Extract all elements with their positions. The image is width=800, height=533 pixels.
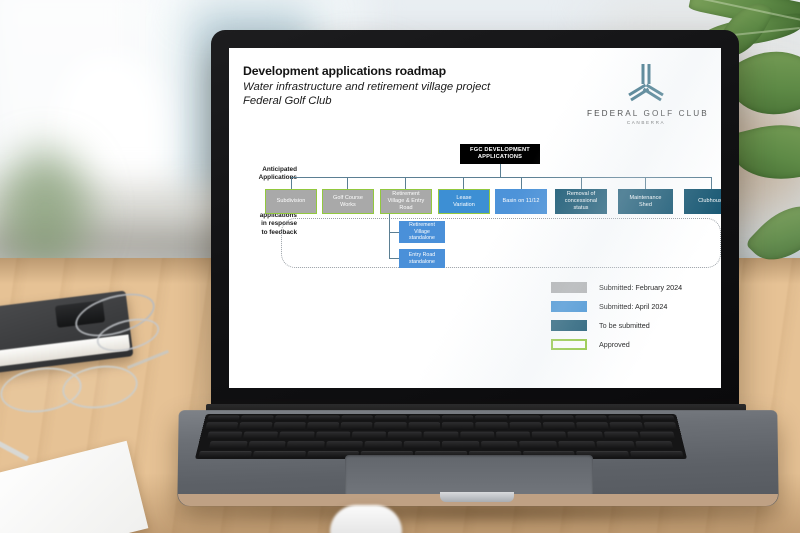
connector-revised-elbow-retirement-village-standalone	[389, 232, 399, 233]
keyboard-key[interactable]	[442, 416, 474, 421]
keyboard-key[interactable]	[568, 432, 603, 440]
keyboard-key[interactable]	[239, 422, 272, 430]
node-label-line2: Shed	[639, 202, 652, 209]
keyboard-key[interactable]	[575, 416, 607, 421]
keyboard-key[interactable]	[315, 432, 350, 440]
laptop-screen: Development applications roadmap Water i…	[229, 48, 721, 388]
keyboard-key[interactable]	[273, 422, 306, 430]
laptop-keyboard[interactable]	[195, 414, 687, 459]
keyboard-key[interactable]	[340, 422, 372, 430]
keyboard-key[interactable]	[442, 422, 474, 430]
keyboard-key[interactable]	[252, 451, 305, 458]
connector-drop-lease-variation	[463, 177, 464, 189]
keyboard-key[interactable]	[374, 422, 406, 430]
node-label-line2: Works	[340, 202, 356, 209]
legend-label: Submitted: April 2024	[599, 302, 667, 311]
keyboard-key[interactable]	[403, 441, 440, 449]
keyboard-key[interactable]	[408, 422, 440, 430]
legend-swatch-gray	[551, 282, 587, 293]
keyboard-key[interactable]	[639, 432, 675, 440]
connector-revised-vertical	[389, 214, 390, 259]
keyboard-key[interactable]	[279, 432, 314, 440]
connector-revised-elbow-entry-road-standalone	[389, 258, 399, 259]
keyboard-key[interactable]	[207, 416, 240, 421]
keyboard-key[interactable]	[576, 422, 609, 430]
diagram-node-maintenance-shed[interactable]: Maintenance Shed	[618, 189, 673, 214]
keyboard-key[interactable]	[375, 416, 407, 421]
keyboard-key[interactable]	[604, 432, 639, 440]
legend-item-submitted-february-2024: Submitted: February 2024	[551, 279, 682, 295]
node-label-line3: status	[574, 205, 589, 212]
node-label-line1: FGC DEVELOPMENT	[470, 147, 530, 154]
legend-swatch-teal	[551, 320, 587, 331]
keyboard-key[interactable]	[642, 416, 675, 421]
keyboard-key[interactable]	[248, 441, 286, 449]
keyboard-key[interactable]	[325, 441, 362, 449]
diagram-node-retirement-village-entry-road[interactable]: Retirement Village & Entry Road	[380, 189, 432, 214]
keyboard-key[interactable]	[509, 416, 541, 421]
keyboard-key[interactable]	[460, 432, 494, 440]
connector-drop-basin-on-11-12	[521, 177, 522, 189]
keyboard-key[interactable]	[352, 432, 387, 440]
connector-drop-maintenance-shed	[645, 177, 646, 189]
keyboard-key[interactable]	[388, 432, 422, 440]
diagram-node-lease-variation[interactable]: Lease Variation	[438, 189, 490, 214]
roadmap-diagram: FGC DEVELOPMENT APPLICATIONS Subdi	[229, 48, 721, 388]
laptop-front-notch	[440, 492, 514, 502]
presentation-slide: Development applications roadmap Water i…	[229, 48, 721, 388]
node-label-line2: standalone	[409, 259, 435, 265]
node-label-line1: Maintenance	[629, 195, 661, 202]
keyboard-key[interactable]	[207, 432, 243, 440]
diagram-node-clubhouse[interactable]: Clubhouse	[684, 189, 721, 214]
connector-drop-removal-of-concessional-status	[581, 177, 582, 189]
connector-root-stem	[500, 164, 501, 178]
node-label-line1: Clubhouse	[698, 198, 721, 205]
laptop-trackpad[interactable]	[345, 455, 593, 497]
keyboard-key[interactable]	[610, 422, 643, 430]
keyboard-key[interactable]	[596, 441, 634, 449]
keyboard-key[interactable]	[209, 441, 247, 449]
node-label-line1: Basin on 11/12	[503, 198, 540, 205]
keyboard-key[interactable]	[481, 441, 518, 449]
connector-drop-retirement-village-entry-road	[405, 177, 406, 189]
keyboard-key[interactable]	[635, 441, 673, 449]
connector-horizontal-bus	[291, 177, 712, 178]
connector-drop-golf-course-works	[347, 177, 348, 189]
revised-applications-zone	[281, 218, 721, 268]
keyboard-key[interactable]	[341, 416, 373, 421]
node-label-line1: Removal of	[567, 191, 595, 198]
node-label-line2: APPLICATIONS	[478, 154, 522, 161]
legend-label: To be submitted	[599, 321, 650, 330]
connector-drop-clubhouse	[711, 177, 712, 189]
keyboard-key[interactable]	[558, 441, 596, 449]
legend-item-approved: Approved	[551, 336, 682, 352]
keyboard-key[interactable]	[243, 432, 278, 440]
node-label-line2: concessional	[565, 198, 597, 205]
node-label-line1: Golf Course	[333, 195, 363, 202]
keyboard-key[interactable]	[274, 416, 306, 421]
diagram-node-subdivision[interactable]: Subdivision	[265, 189, 317, 214]
legend: Submitted: February 2024 Submitted: Apri…	[551, 279, 682, 355]
keyboard-key[interactable]	[442, 441, 479, 449]
diagram-node-retirement-village-standalone[interactable]: Retirement Village standalone	[399, 221, 445, 243]
keyboard-key[interactable]	[542, 416, 574, 421]
legend-item-to-be-submitted: To be submitted	[551, 317, 682, 333]
keyboard-key[interactable]	[364, 441, 401, 449]
keyboard-key[interactable]	[476, 422, 508, 430]
node-label-line1: Lease	[456, 195, 471, 202]
screenshot-scene: Development applications roadmap Water i…	[0, 0, 800, 533]
keyboard-key[interactable]	[475, 416, 507, 421]
node-label-line3: standalone	[409, 235, 435, 241]
connector-drop-subdivision	[291, 177, 292, 189]
legend-item-submitted-april-2024: Submitted: April 2024	[551, 298, 682, 314]
node-label-line1: Retirement	[392, 191, 419, 198]
keyboard-key[interactable]	[519, 441, 556, 449]
legend-swatch-green-outline	[551, 339, 587, 350]
keyboard-key[interactable]	[643, 422, 676, 430]
keyboard-key[interactable]	[205, 422, 238, 430]
diagram-node-basin-on-11-12[interactable]: Basin on 11/12	[495, 189, 547, 214]
legend-swatch-blue	[551, 301, 587, 312]
keyboard-key[interactable]	[532, 432, 567, 440]
diagram-node-fgc-development-applications[interactable]: FGC DEVELOPMENT APPLICATIONS	[460, 144, 540, 164]
diagram-node-golf-course-works[interactable]: Golf Course Works	[322, 189, 374, 214]
keyboard-key[interactable]	[609, 416, 641, 421]
keyboard-key[interactable]	[241, 416, 273, 421]
legend-label: Approved	[599, 340, 630, 349]
diagram-node-removal-of-concessional-status[interactable]: Removal of concessional status	[555, 189, 607, 214]
keyboard-key[interactable]	[198, 451, 251, 458]
keyboard-key[interactable]	[424, 432, 458, 440]
keyboard-key[interactable]	[543, 422, 576, 430]
keyboard-key[interactable]	[408, 416, 440, 421]
keyboard-key[interactable]	[307, 422, 340, 430]
keyboard-key[interactable]	[308, 416, 340, 421]
legend-label: Submitted: February 2024	[599, 283, 682, 292]
diagram-node-entry-road-standalone[interactable]: Entry Road standalone	[399, 249, 445, 268]
keyboard-key[interactable]	[509, 422, 541, 430]
keyboard-key[interactable]	[496, 432, 531, 440]
node-label-line3: Road	[399, 205, 412, 212]
node-label-line2: Village & Entry	[388, 198, 425, 205]
node-label-line2: Variation	[453, 202, 475, 209]
keyboard-key[interactable]	[286, 441, 324, 449]
keyboard-key[interactable]	[630, 451, 683, 458]
node-label-line1: Subdivision	[277, 198, 306, 205]
